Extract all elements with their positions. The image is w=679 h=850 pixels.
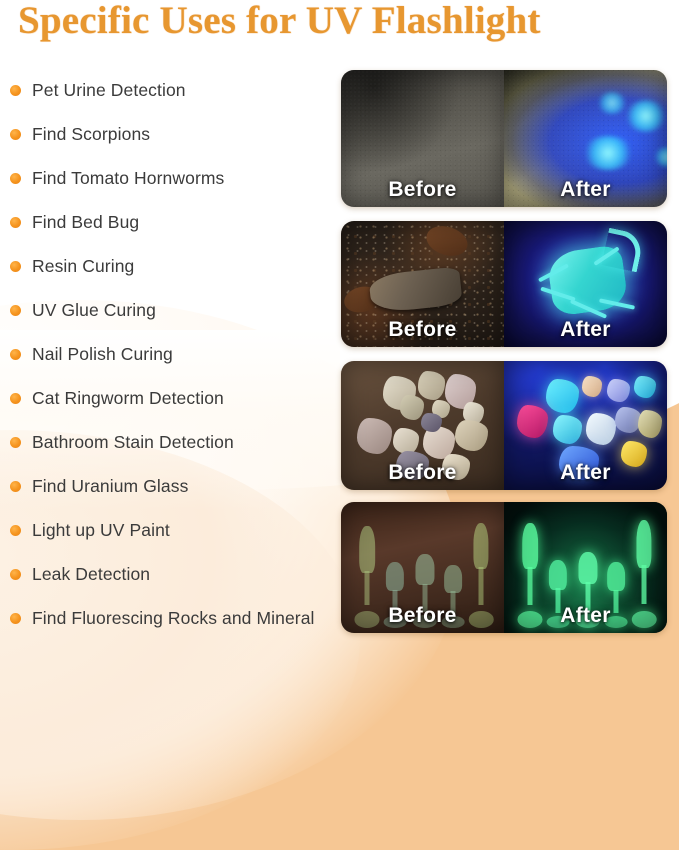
glowing-rock-specimen [634, 376, 655, 398]
filled-circle-bullet-icon [10, 261, 21, 272]
before-caption: Before [341, 178, 504, 202]
filled-circle-bullet-icon [10, 305, 21, 316]
before-caption: Before [341, 461, 504, 485]
list-item-label: Resin Curing [32, 256, 134, 277]
glowing-rock-specimen [582, 376, 602, 397]
rock-specimen [357, 418, 391, 454]
after-caption: After [504, 178, 667, 202]
glowing-scorpion-tail [602, 228, 645, 272]
rock-specimen [393, 428, 419, 454]
glowing-rock-specimen [615, 407, 641, 433]
list-item-label: Light up UV Paint [32, 520, 170, 541]
glass-stem [365, 571, 370, 606]
after-image-uranium-glass: After [504, 502, 667, 633]
page-title: Specific Uses for UV Flashlight [18, 0, 658, 43]
list-item-label: Find Uranium Glass [32, 476, 188, 497]
uses-list: Pet Urine Detection Find Scorpions Find … [6, 68, 336, 640]
filled-circle-bullet-icon [10, 85, 21, 96]
rock-specimen [418, 371, 446, 399]
list-item-label: Cat Ringworm Detection [32, 388, 224, 409]
filled-circle-bullet-icon [10, 481, 21, 492]
filled-circle-bullet-icon [10, 217, 21, 228]
filled-circle-bullet-icon [10, 393, 21, 404]
list-item-label: Nail Polish Curing [32, 344, 173, 365]
list-item-label: Bathroom Stain Detection [32, 432, 234, 453]
filled-circle-bullet-icon [10, 525, 21, 536]
after-image-scorpion: After [504, 221, 667, 347]
glowing-rock-specimen [638, 410, 662, 438]
list-item: Find Tomato Hornworms [6, 156, 336, 200]
glass-cup [549, 560, 567, 590]
list-item-label: Pet Urine Detection [32, 80, 186, 101]
glowing-rock-specimen [607, 379, 630, 402]
filled-circle-bullet-icon [10, 437, 21, 448]
list-item: Find Uranium Glass [6, 464, 336, 508]
list-item: Leak Detection [6, 552, 336, 596]
glass-cup [445, 565, 463, 593]
glass-cup [359, 526, 375, 573]
comparison-panel-uranium-glass: Before [341, 502, 667, 633]
glass-stem [642, 565, 647, 604]
filled-circle-bullet-icon [10, 569, 21, 580]
uv-stain-glow [597, 92, 627, 114]
filled-circle-bullet-icon [10, 173, 21, 184]
comparison-panel-stack: Before After Before [341, 70, 667, 633]
list-item-label: UV Glue Curing [32, 300, 156, 321]
list-item: Find Scorpions [6, 112, 336, 156]
list-item-label: Find Bed Bug [32, 212, 139, 233]
glass-stem [479, 567, 484, 605]
list-item-label: Find Fluorescing Rocks and Mineral [32, 608, 315, 629]
uv-stain-glow [625, 100, 667, 132]
after-caption: After [504, 318, 667, 342]
list-item: Find Bed Bug [6, 200, 336, 244]
glowing-rock-specimen [517, 405, 548, 439]
before-image-scorpion: Before [341, 221, 504, 347]
uv-stain-glow [582, 136, 634, 170]
list-item: Bathroom Stain Detection [6, 420, 336, 464]
glass-cup [386, 562, 404, 591]
glass-cup [415, 554, 434, 585]
comparison-panel-rocks: Before After [341, 361, 667, 490]
glass-cup [637, 520, 652, 567]
after-image-pet-urine: After [504, 70, 667, 207]
list-item-label: Find Tomato Hornworms [32, 168, 224, 189]
glass-stem [528, 567, 533, 605]
rock-specimen [421, 413, 442, 432]
rock-specimen [455, 420, 488, 451]
comparison-panel-pet-urine: Before After [341, 70, 667, 207]
glass-cup [522, 523, 538, 569]
filled-circle-bullet-icon [10, 349, 21, 360]
glowing-rock-specimen [586, 413, 617, 445]
before-image-uranium-glass: Before [341, 502, 504, 633]
before-image-pet-urine: Before [341, 70, 504, 207]
before-image-rocks: Before [341, 361, 504, 490]
after-caption: After [504, 461, 667, 485]
before-caption: Before [341, 318, 504, 342]
list-item: Cat Ringworm Detection [6, 376, 336, 420]
after-image-rocks: After [504, 361, 667, 490]
glass-cup [578, 552, 597, 584]
rock-specimen [400, 395, 424, 421]
list-item: Nail Polish Curing [6, 332, 336, 376]
list-item: Pet Urine Detection [6, 68, 336, 112]
list-item: Find Fluorescing Rocks and Mineral [6, 596, 336, 640]
glass-cup [608, 562, 626, 591]
filled-circle-bullet-icon [10, 613, 21, 624]
list-item-label: Leak Detection [32, 564, 150, 585]
glass-cup [474, 523, 489, 569]
list-item: UV Glue Curing [6, 288, 336, 332]
after-caption: After [504, 604, 667, 628]
filled-circle-bullet-icon [10, 129, 21, 140]
list-item: Light up UV Paint [6, 508, 336, 552]
before-caption: Before [341, 604, 504, 628]
list-item-label: Find Scorpions [32, 124, 150, 145]
glowing-rock-specimen [546, 379, 579, 413]
glowing-rock-specimen [553, 415, 582, 443]
list-item: Resin Curing [6, 244, 336, 288]
comparison-panel-scorpion: Before After [341, 221, 667, 347]
